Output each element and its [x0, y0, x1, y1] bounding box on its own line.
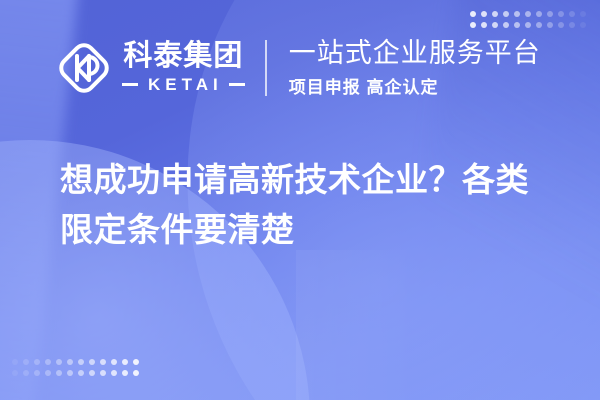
dot — [492, 11, 498, 17]
dot — [536, 11, 542, 17]
dot — [580, 22, 586, 28]
dot — [503, 22, 509, 28]
brand-tagline: 一站式企业服务平台 项目申报 高企认定 — [289, 37, 541, 98]
dot — [492, 22, 498, 28]
dot — [89, 370, 95, 376]
dot-pattern-bottom-left — [12, 359, 139, 376]
dot — [547, 11, 553, 17]
dot — [56, 370, 62, 376]
dot — [503, 11, 509, 17]
dot-row — [470, 22, 586, 28]
dot — [12, 359, 18, 365]
page-title: 想成功申请高新技术企业？各类限定条件要清楚 — [60, 155, 560, 255]
dot-row — [12, 370, 139, 376]
brand-logo: 科泰集团 KETAI — [52, 36, 245, 100]
dot — [133, 370, 139, 376]
dot — [547, 22, 553, 28]
dot — [111, 370, 117, 376]
brand-name-cn: 科泰集团 — [123, 41, 243, 71]
dot — [34, 370, 40, 376]
tagline-main: 一站式企业服务平台 — [289, 37, 541, 69]
dot — [122, 359, 128, 365]
dot — [100, 370, 106, 376]
dot-pattern-top-right — [470, 11, 586, 28]
dot — [525, 22, 531, 28]
brand-name-en-row: KETAI — [122, 75, 245, 95]
dot-row — [470, 11, 586, 17]
brand-header: 科泰集团 KETAI 一站式企业服务平台 项目申报 高企认定 — [52, 36, 541, 100]
dot — [45, 359, 51, 365]
dot — [536, 22, 542, 28]
dot — [23, 370, 29, 376]
dot — [514, 11, 520, 17]
dot — [481, 22, 487, 28]
dot — [133, 359, 139, 365]
dot — [558, 22, 564, 28]
dot-row — [12, 359, 139, 365]
brand-name-en: KETAI — [144, 75, 223, 95]
dot — [525, 11, 531, 17]
dot — [481, 11, 487, 17]
brand-wordmark: 科泰集团 KETAI — [122, 41, 245, 94]
dot — [56, 359, 62, 365]
dot — [45, 370, 51, 376]
dot — [470, 11, 476, 17]
dot — [580, 11, 586, 17]
dot — [100, 359, 106, 365]
dot — [34, 359, 40, 365]
dot — [12, 370, 18, 376]
dot — [569, 11, 575, 17]
dot — [89, 359, 95, 365]
dash-left-icon — [122, 83, 138, 86]
dot — [558, 11, 564, 17]
dash-right-icon — [229, 83, 245, 86]
dot — [78, 370, 84, 376]
dot — [111, 359, 117, 365]
ketai-diamond-kp-logo-icon — [52, 36, 116, 100]
header-divider — [265, 40, 267, 96]
dot — [569, 22, 575, 28]
dot — [67, 370, 73, 376]
dot — [470, 22, 476, 28]
dot — [23, 359, 29, 365]
tagline-sub: 项目申报 高企认定 — [289, 77, 541, 99]
dot — [78, 359, 84, 365]
seam-highlight — [296, 250, 416, 400]
promo-banner: 科泰集团 KETAI 一站式企业服务平台 项目申报 高企认定 想成功申请高新技术… — [0, 0, 600, 400]
dot — [122, 370, 128, 376]
dot — [67, 359, 73, 365]
dot — [514, 22, 520, 28]
